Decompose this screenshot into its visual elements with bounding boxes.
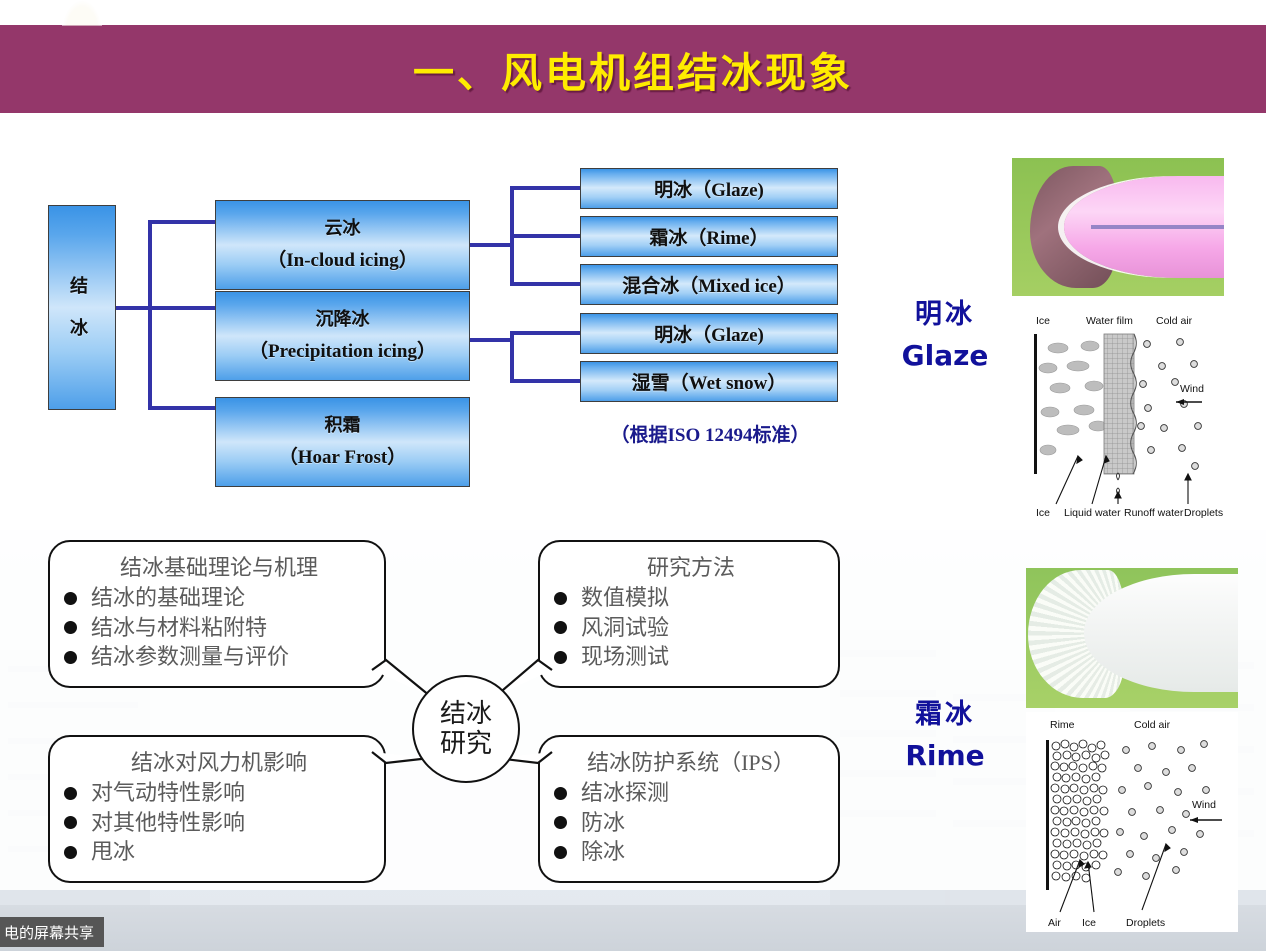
mindmap-center-line1: 结冰 bbox=[440, 699, 492, 729]
photo-rime-blade bbox=[1026, 568, 1238, 708]
svg-text:Cold air: Cold air bbox=[1156, 315, 1193, 327]
svg-text:Cold air: Cold air bbox=[1134, 719, 1171, 731]
diagram-box-cat2-en: （Precipitation icing） bbox=[249, 339, 436, 365]
diagram-leaf-4-label: 明冰（Glaze) bbox=[654, 320, 764, 347]
screen-share-badge: 电的屏幕共享 bbox=[0, 917, 104, 947]
diagram-box-root-line1: 结 bbox=[70, 266, 94, 307]
page-title: 一、风电机组结冰现象 bbox=[413, 39, 853, 99]
mindmap-center-line2: 研究 bbox=[440, 729, 492, 759]
side-label-rime-cn: 霜冰 bbox=[880, 692, 1010, 731]
schematic-glaze: Ice Water film Cold air bbox=[1012, 308, 1224, 520]
icing-classification-diagram: 结 冰 云冰 （In-cloud icing） 沉降冰 （Precipitati… bbox=[0, 120, 900, 520]
connector-cat2-vertical bbox=[510, 331, 514, 383]
icing-research-mindmap: 结冰基础理论与机理 结冰的基础理论 结冰与材料粘附特 结冰参数测量与评价 研究方… bbox=[0, 520, 900, 920]
diagram-leaf-5-label: 湿雪（Wet snow） bbox=[632, 368, 787, 395]
diagram-box-cat1-en: （In-cloud icing） bbox=[267, 248, 417, 274]
side-label-rime: 霜冰 Rime bbox=[880, 692, 1010, 772]
diagram-leaf-2-label: 霜冰（Rime） bbox=[649, 223, 768, 250]
screen-share-label: 电的屏幕共享 bbox=[4, 922, 94, 943]
diagram-box-precipitation-icing[interactable]: 沉降冰 （Precipitation icing） bbox=[215, 291, 470, 381]
corner-logo-watermark bbox=[62, 0, 102, 26]
diagram-box-cat2-cn: 沉降冰 bbox=[316, 307, 370, 331]
svg-text:Liquid water: Liquid water bbox=[1064, 507, 1121, 519]
connector-cat2-leaf5 bbox=[510, 379, 582, 383]
svg-text:Wind: Wind bbox=[1192, 799, 1216, 811]
diagram-leaf-1-label: 明冰（Glaze) bbox=[654, 175, 764, 202]
connector-cat1-leaf3 bbox=[510, 282, 582, 286]
connector-root-stub bbox=[116, 306, 152, 310]
diagram-leaf-wet-snow[interactable]: 湿雪（Wet snow） bbox=[580, 361, 838, 402]
connector-cat1-leaf1 bbox=[510, 186, 582, 190]
slide-title-bar: 一、风电机组结冰现象 bbox=[0, 25, 1266, 113]
connector-cat2-leaf4 bbox=[510, 331, 582, 335]
side-label-glaze-en: Glaze bbox=[880, 339, 1010, 372]
svg-text:Ice: Ice bbox=[1082, 917, 1096, 929]
svg-text:Water film: Water film bbox=[1086, 315, 1133, 327]
diagram-leaf-rime[interactable]: 霜冰（Rime） bbox=[580, 216, 838, 257]
diagram-box-cat1-cn: 云冰 bbox=[325, 216, 361, 240]
diagram-leaf-3-label: 混合冰（Mixed ice） bbox=[622, 271, 796, 298]
connector-to-cat2 bbox=[148, 306, 218, 310]
connector-root-vertical bbox=[148, 220, 152, 410]
iso-standard-note: （根据ISO 12494标准） bbox=[555, 420, 865, 447]
svg-text:Ice: Ice bbox=[1036, 507, 1050, 519]
svg-text:Rime: Rime bbox=[1050, 719, 1075, 731]
svg-text:Air: Air bbox=[1048, 917, 1061, 929]
diagram-leaf-glaze-cloud[interactable]: 明冰（Glaze) bbox=[580, 168, 838, 209]
connector-cat2-stub bbox=[468, 338, 513, 342]
photo-glaze-blade bbox=[1012, 158, 1224, 296]
diagram-box-root[interactable]: 结 冰 bbox=[48, 205, 116, 410]
diagram-box-hoar-frost[interactable]: 积霜 （Hoar Frost） bbox=[215, 397, 470, 487]
connector-cat1-leaf2 bbox=[510, 234, 582, 238]
schematic-rime: Rime Cold air bbox=[1026, 712, 1238, 932]
side-label-glaze-cn: 明冰 bbox=[880, 292, 1010, 331]
diagram-box-in-cloud-icing[interactable]: 云冰 （In-cloud icing） bbox=[215, 200, 470, 290]
diagram-leaf-glaze-precip[interactable]: 明冰（Glaze) bbox=[580, 313, 838, 354]
diagram-box-root-line2: 冰 bbox=[70, 308, 94, 349]
svg-text:Wind: Wind bbox=[1180, 383, 1204, 395]
svg-text:Droplets: Droplets bbox=[1184, 507, 1223, 519]
connector-to-cat1 bbox=[148, 220, 218, 224]
diagram-box-cat3-en: （Hoar Frost） bbox=[279, 445, 407, 471]
connector-to-cat3 bbox=[148, 406, 218, 410]
connector-cat1-stub bbox=[468, 243, 513, 247]
side-label-rime-en: Rime bbox=[880, 739, 1010, 772]
svg-text:Droplets: Droplets bbox=[1126, 917, 1165, 929]
svg-text:Runoff water: Runoff water bbox=[1124, 507, 1184, 519]
diagram-leaf-mixed-ice[interactable]: 混合冰（Mixed ice） bbox=[580, 264, 838, 305]
mindmap-center-node[interactable]: 结冰 研究 bbox=[412, 675, 520, 783]
side-label-glaze: 明冰 Glaze bbox=[880, 292, 1010, 372]
svg-text:Ice: Ice bbox=[1036, 315, 1050, 327]
diagram-box-cat3-cn: 积霜 bbox=[325, 413, 361, 437]
